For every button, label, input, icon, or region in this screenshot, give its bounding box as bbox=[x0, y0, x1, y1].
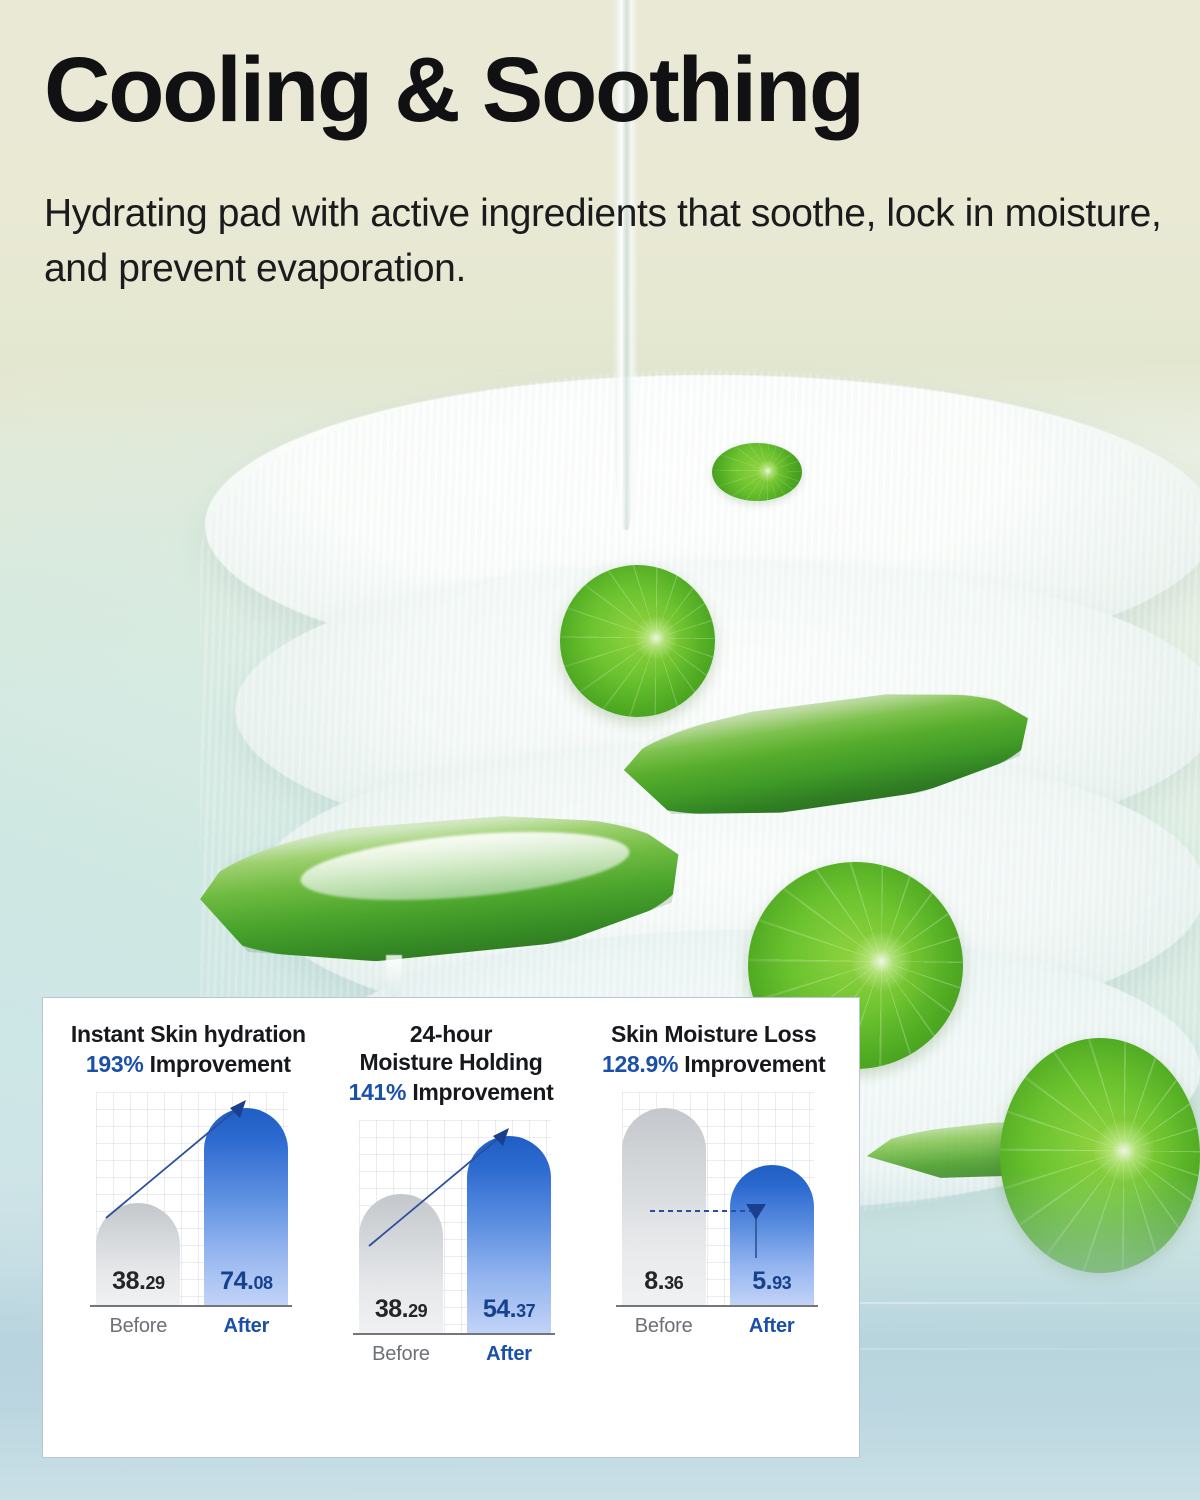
bar-value-label: 8.36 bbox=[622, 1267, 706, 1296]
stat-improvement: 193% Improvement bbox=[86, 1051, 291, 1078]
bar-after: 74.08 bbox=[204, 1108, 288, 1305]
bar-value-label: 38.29 bbox=[359, 1295, 443, 1324]
bar-wrapper: 8.36 bbox=[622, 1108, 706, 1305]
bar-value-label: 5.93 bbox=[730, 1267, 814, 1296]
improvement-label: Improvement bbox=[684, 1051, 825, 1077]
improvement-percent: 128.9% bbox=[602, 1051, 678, 1077]
page-subtitle: Hydrating pad with active ingredients th… bbox=[44, 186, 1174, 297]
bar-chart: 8.365.93BeforeAfter bbox=[606, 1092, 822, 1340]
bar-wrapper: 38.29 bbox=[96, 1203, 180, 1305]
bar-chart: 38.2974.08BeforeAfter bbox=[80, 1092, 296, 1340]
bar-before: 8.36 bbox=[622, 1108, 706, 1305]
category-axis-labels: BeforeAfter bbox=[359, 1340, 551, 1368]
stat-column: 24-hour Moisture Holding141% Improvement… bbox=[320, 1020, 583, 1443]
bar-value-label: 54.37 bbox=[467, 1295, 551, 1324]
stat-improvement: 141% Improvement bbox=[349, 1079, 554, 1106]
bar-group: 8.365.93 bbox=[622, 1093, 814, 1305]
tick-label-before: Before bbox=[359, 1343, 443, 1366]
bar-value-label: 74.08 bbox=[204, 1267, 288, 1296]
centella-leaf-icon bbox=[712, 443, 802, 501]
improvement-percent: 193% bbox=[86, 1051, 144, 1077]
stat-title: 24-hour Moisture Holding bbox=[359, 1020, 542, 1076]
tick-label-before: Before bbox=[96, 1315, 180, 1338]
bar-after: 54.37 bbox=[467, 1136, 551, 1333]
stat-column: Skin Moisture Loss128.9% Improvement8.36… bbox=[582, 1020, 845, 1443]
improvement-percent: 141% bbox=[349, 1079, 407, 1105]
bar-group: 38.2954.37 bbox=[359, 1121, 551, 1333]
improvement-label: Improvement bbox=[412, 1079, 553, 1105]
bar-wrapper: 38.29 bbox=[359, 1194, 443, 1333]
stat-title: Instant Skin hydration bbox=[71, 1020, 306, 1048]
stat-column: Instant Skin hydration193% Improvement38… bbox=[57, 1020, 320, 1443]
page-title: Cooling & Soothing bbox=[44, 42, 863, 139]
category-axis-labels: BeforeAfter bbox=[622, 1312, 814, 1340]
bar-wrapper: 54.37 bbox=[467, 1136, 551, 1333]
tick-label-after: After bbox=[730, 1315, 814, 1338]
bar-chart: 38.2954.37BeforeAfter bbox=[343, 1120, 559, 1368]
bar-before: 38.29 bbox=[96, 1203, 180, 1305]
category-axis-labels: BeforeAfter bbox=[96, 1312, 288, 1340]
bar-group: 38.2974.08 bbox=[96, 1093, 288, 1305]
serum-drip bbox=[386, 955, 402, 999]
tick-label-after: After bbox=[467, 1343, 551, 1366]
tick-label-before: Before bbox=[622, 1315, 706, 1338]
bar-value-label: 38.29 bbox=[96, 1267, 180, 1296]
tick-label-after: After bbox=[204, 1315, 288, 1338]
bar-wrapper: 5.93 bbox=[730, 1165, 814, 1305]
bar-before: 38.29 bbox=[359, 1194, 443, 1333]
centella-leaf-icon bbox=[560, 565, 715, 717]
stat-title: Skin Moisture Loss bbox=[611, 1020, 816, 1048]
chart-baseline bbox=[90, 1305, 292, 1307]
chart-baseline bbox=[353, 1333, 555, 1335]
stat-improvement: 128.9% Improvement bbox=[602, 1051, 825, 1078]
improvement-label: Improvement bbox=[150, 1051, 291, 1077]
bar-after: 5.93 bbox=[730, 1165, 814, 1305]
clinical-results-panel: Instant Skin hydration193% Improvement38… bbox=[42, 997, 860, 1458]
chart-baseline bbox=[616, 1305, 818, 1307]
bar-wrapper: 74.08 bbox=[204, 1108, 288, 1305]
